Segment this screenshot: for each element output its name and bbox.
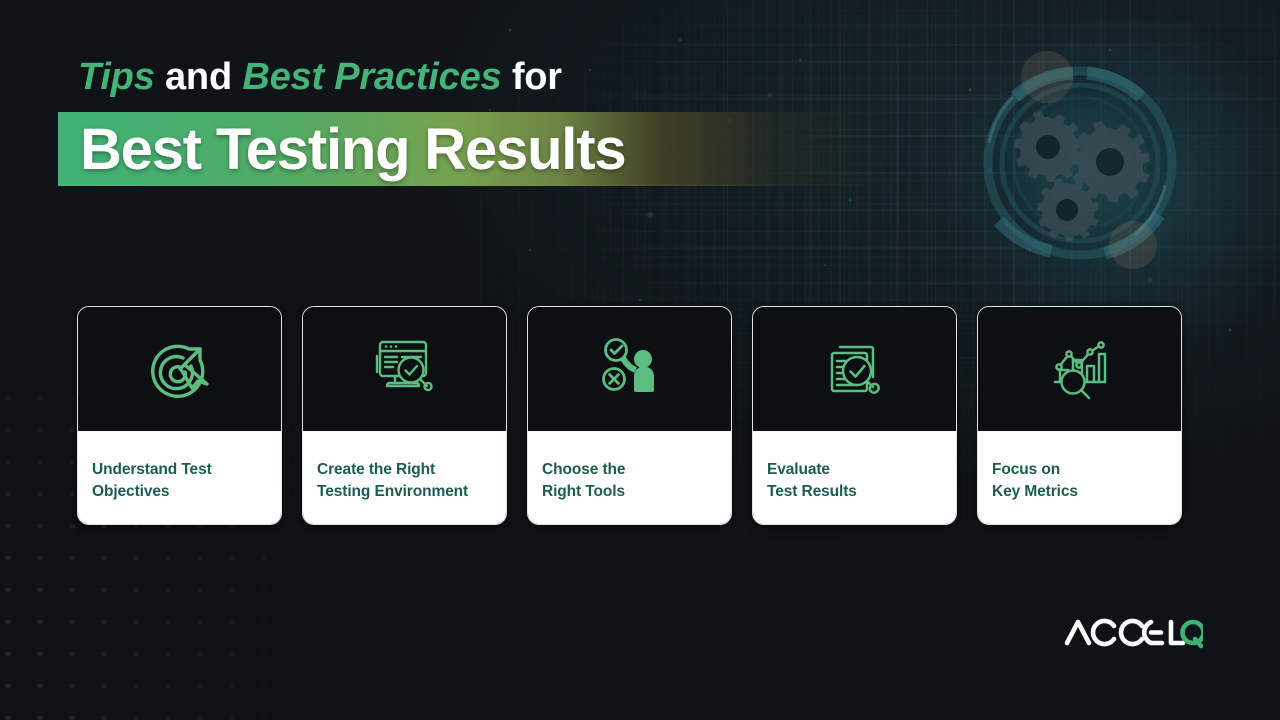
card-create-the-right-testing-environment[interactable]: Create the Right Testing Environment bbox=[302, 306, 507, 525]
card-title: Create the Right Testing Environment bbox=[317, 459, 492, 503]
card-choose-the-right-tools[interactable]: Choose the Right Tools bbox=[527, 306, 732, 525]
card-evaluate-test-results[interactable]: Evaluate Test Results bbox=[752, 306, 957, 525]
card-icon-panel bbox=[528, 307, 731, 431]
bar-chart-search-icon bbox=[1043, 332, 1117, 406]
slide-canvas: Tips and Best Practices for Best Testing… bbox=[0, 0, 1280, 720]
target-arrow-icon bbox=[144, 333, 216, 405]
card-title: Understand Test Objectives bbox=[92, 459, 267, 503]
card-icon-panel bbox=[753, 307, 956, 431]
accelq-logo-mark bbox=[1063, 615, 1203, 649]
card-icon-panel bbox=[303, 307, 506, 431]
document-search-check-icon bbox=[819, 333, 891, 405]
gear-ring-icon bbox=[955, 35, 1280, 325]
card-icon-panel bbox=[78, 307, 281, 431]
card-title: Evaluate Test Results bbox=[767, 459, 942, 503]
card-title: Choose the Right Tools bbox=[542, 459, 717, 503]
card-title: Focus on Key Metrics bbox=[992, 459, 1167, 503]
card-body: Create the Right Testing Environment bbox=[303, 431, 506, 524]
heading-for: for bbox=[512, 56, 562, 98]
card-understand-test-objectives[interactable]: Understand Test Objectives bbox=[77, 306, 282, 525]
card-focus-on-key-metrics[interactable]: Focus on Key Metrics bbox=[977, 306, 1182, 525]
person-choice-check-cross-icon bbox=[594, 333, 666, 405]
card-row: Understand Test Objectives bbox=[77, 306, 1203, 525]
heading-line-1: Tips and Best Practices for bbox=[78, 58, 562, 96]
card-body: Choose the Right Tools bbox=[528, 431, 731, 524]
card-body: Focus on Key Metrics bbox=[978, 431, 1181, 524]
card-icon-panel bbox=[978, 307, 1181, 431]
heading-line-2: Best Testing Results bbox=[80, 118, 625, 183]
card-body: Understand Test Objectives bbox=[78, 431, 281, 524]
heading-tips: Tips bbox=[78, 56, 155, 98]
heading-and: and bbox=[165, 56, 232, 98]
monitor-search-check-icon bbox=[368, 332, 442, 406]
title-bar-sheen bbox=[58, 184, 890, 186]
accelq-logo[interactable] bbox=[1063, 615, 1203, 649]
heading-best-practices: Best Practices bbox=[242, 56, 501, 98]
card-body: Evaluate Test Results bbox=[753, 431, 956, 524]
